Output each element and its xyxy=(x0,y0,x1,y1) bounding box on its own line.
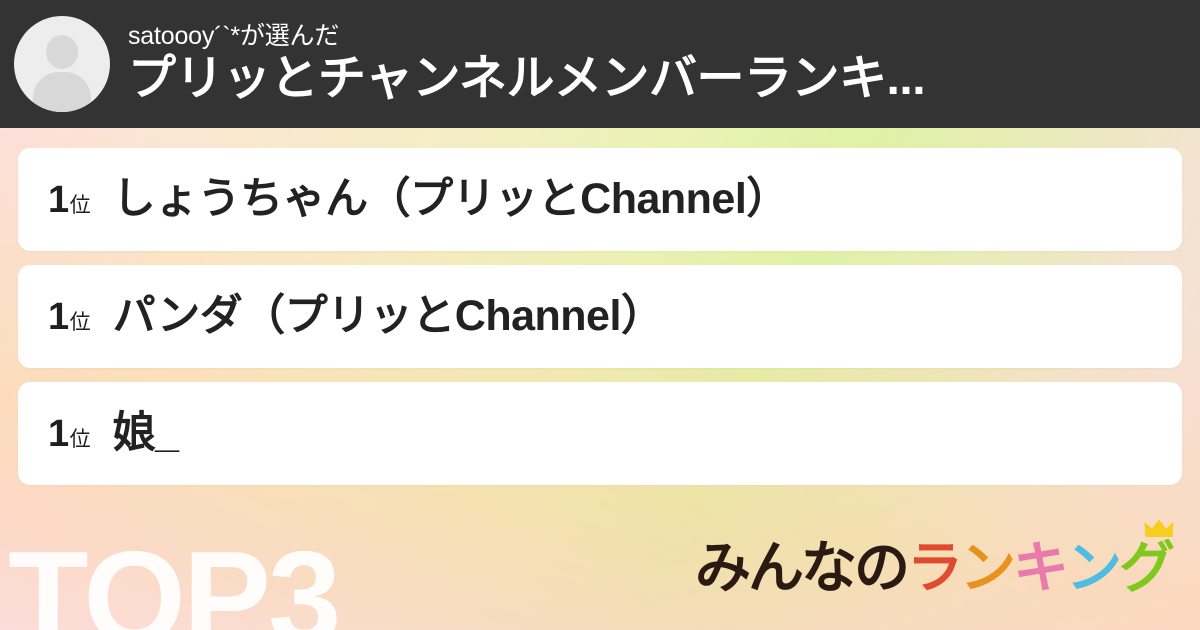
list-item[interactable]: 1 位 娘_ xyxy=(18,382,1182,485)
rank-number: 1 xyxy=(48,181,69,219)
rank-entry-name: 娘_ xyxy=(113,409,1154,458)
crown-icon xyxy=(1144,519,1174,539)
page-title: プリッとチャンネルメンバーランキ... xyxy=(128,52,1190,106)
brand-logo-char-ki: キ xyxy=(1013,540,1066,596)
brand-logo-char-n1: ン xyxy=(960,540,1013,596)
rank-badge: 1 位 xyxy=(48,181,91,219)
list-item[interactable]: 1 位 しょうちゃん（プリッとChannel） xyxy=(18,148,1182,251)
rank-badge: 1 位 xyxy=(48,415,91,453)
rank-number: 1 xyxy=(48,415,69,453)
rank-unit: 位 xyxy=(70,195,91,216)
header-author-line: satoooy´`*が選んだ xyxy=(128,23,1190,50)
ranking-list: 1 位 しょうちゃん（プリッとChannel） 1 位 パンダ（プリッとChan… xyxy=(18,148,1182,499)
brand-logo-char-n2: ン xyxy=(1066,540,1119,596)
list-item[interactable]: 1 位 パンダ（プリッとChannel） xyxy=(18,265,1182,368)
rank-unit: 位 xyxy=(70,429,91,450)
rank-unit: 位 xyxy=(70,312,91,333)
header-bar: satoooy´`*が選んだ プリッとチャンネルメンバーランキ... xyxy=(0,0,1200,128)
brand-logo: みんなの ラ ン キ ン グ xyxy=(695,540,1172,596)
rank-entry-name: しょうちゃん（プリッとChannel） xyxy=(113,175,1154,224)
rank-entry-name: パンダ（プリッとChannel） xyxy=(113,292,1154,341)
ranking-share-card: satoooy´`*が選んだ プリッとチャンネルメンバーランキ... 1 位 し… xyxy=(0,0,1200,630)
avatar-body-shape xyxy=(33,72,91,112)
brand-logo-text-dark: みんなの xyxy=(695,540,907,596)
rank-number: 1 xyxy=(48,298,69,336)
header-text-group: satoooy´`*が選んだ プリッとチャンネルメンバーランキ... xyxy=(128,23,1200,106)
brand-logo-char-ra: ラ xyxy=(907,540,960,596)
user-avatar-icon xyxy=(14,16,110,112)
avatar-head-shape xyxy=(46,35,78,69)
rank-badge: 1 位 xyxy=(48,298,91,336)
brand-logo-char-gu: グ xyxy=(1119,540,1172,596)
top3-watermark: TOP3 xyxy=(8,532,338,630)
